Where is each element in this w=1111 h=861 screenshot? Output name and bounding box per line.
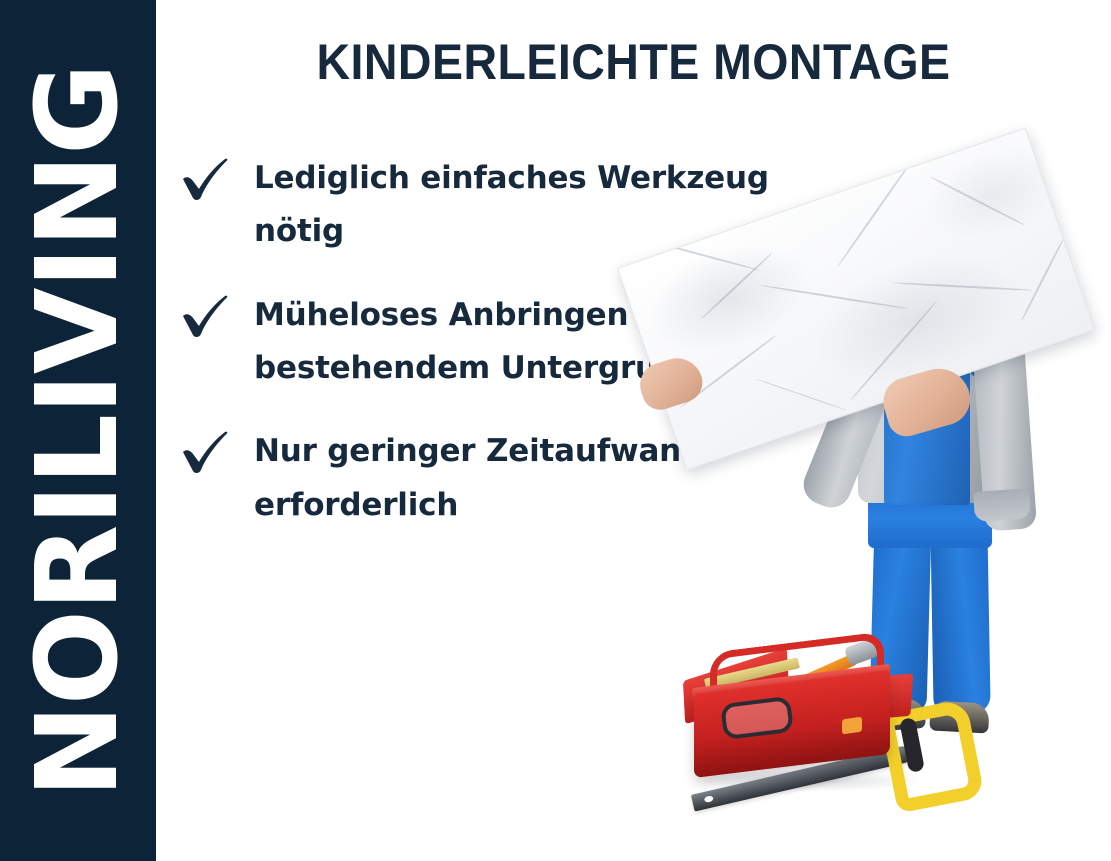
- marble-vein: [1021, 240, 1063, 321]
- toolbox-latch: [842, 717, 862, 735]
- product-photo: [480, 150, 1111, 861]
- worker-sleeve-cuff: [973, 488, 1031, 522]
- toolbox-group: [680, 620, 950, 825]
- brand-name: NORILIVING: [22, 64, 134, 798]
- marble-vein: [760, 284, 908, 310]
- marble-vein: [646, 239, 760, 271]
- brand-rail: NORILIVING: [0, 0, 156, 861]
- checkmark-icon: [180, 293, 230, 339]
- checkmark-icon: [180, 429, 230, 475]
- marble-vein: [931, 177, 1024, 226]
- marble-vein: [756, 378, 847, 411]
- marble-vein: [837, 159, 913, 267]
- page-title: KINDERLEICHTE MONTAGE: [189, 33, 1077, 91]
- checkmark-icon: [180, 156, 230, 202]
- marble-vein: [893, 282, 1033, 291]
- promo-banner: NORILIVING KINDERLEICHTE MONTAGE Ledigli…: [0, 0, 1111, 861]
